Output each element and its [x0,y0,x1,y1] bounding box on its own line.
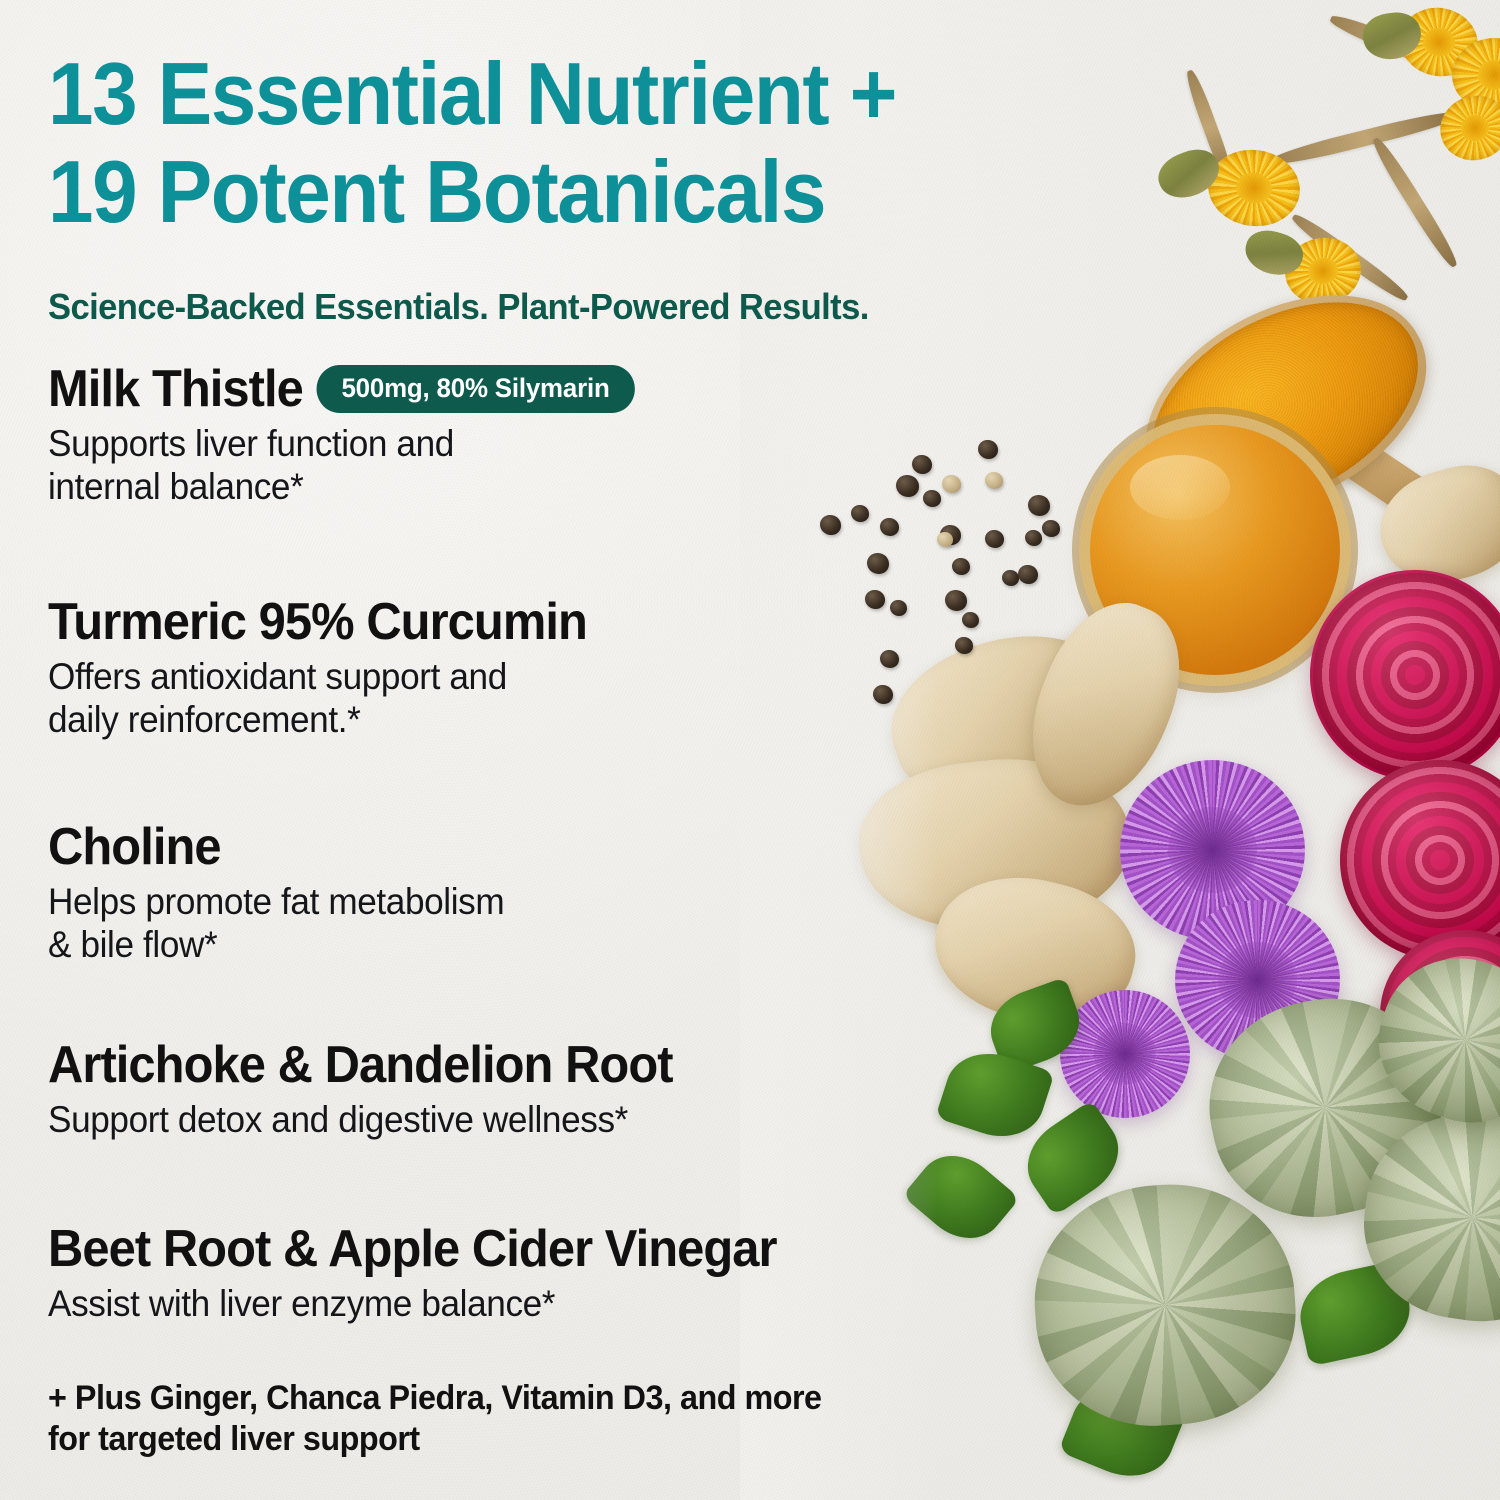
ingredient-item-turmeric: Turmeric 95% Curcumin Offers antioxidant… [48,595,621,741]
ingredient-description: Supports liver function and internal bal… [48,423,638,509]
ingredient-description: Helps promote fat metabolism & bile flow… [48,881,504,967]
ingredient-item-beet-acv: Beet Root & Apple Cider Vinegar Assist w… [48,1222,823,1326]
headline-line-2: 19 Potent Botanicals [48,150,825,234]
ingredient-title-row: Beet Root & Apple Cider Vinegar [48,1222,777,1277]
dosage-badge: 500mg, 80% Silymarin [317,365,635,413]
ingredient-item-choline: Choline Helps promote fat metabolism & b… [48,820,528,966]
ingredient-title-row: Choline [48,820,499,875]
ingredient-item-milk-thistle: Milk Thistle 500mg, 80% Silymarin Suppor… [48,362,669,508]
ingredient-description: Support detox and digestive wellness* [48,1099,679,1142]
ingredient-title-row: Turmeric 95% Curcumin [48,595,587,650]
ingredient-name: Beet Root & Apple Cider Vinegar [48,1222,777,1277]
ingredient-name: Choline [48,820,221,875]
product-benefits-poster: 13 Essential Nutrient + 19 Potent Botani… [0,0,1500,1500]
headline-line-1: 13 Essential Nutrient + [48,52,896,136]
ingredient-item-artichoke-dandelion: Artichoke & Dandelion Root Support detox… [48,1038,712,1142]
ingredient-title-row: Milk Thistle 500mg, 80% Silymarin [48,362,632,417]
footer-note: + Plus Ginger, Chanca Piedra, Vitamin D3… [48,1378,822,1461]
subheadline: Science-Backed Essentials. Plant-Powered… [48,286,869,328]
ingredient-description: Offers antioxidant support and daily rei… [48,656,593,742]
ingredient-title-row: Artichoke & Dandelion Root [48,1038,673,1093]
ingredient-name: Artichoke & Dandelion Root [48,1038,673,1093]
ingredient-name: Turmeric 95% Curcumin [48,595,587,650]
copy-layer: 13 Essential Nutrient + 19 Potent Botani… [0,0,1500,1500]
ingredient-description: Assist with liver enzyme balance* [48,1283,784,1326]
ingredient-name: Milk Thistle [48,362,303,417]
